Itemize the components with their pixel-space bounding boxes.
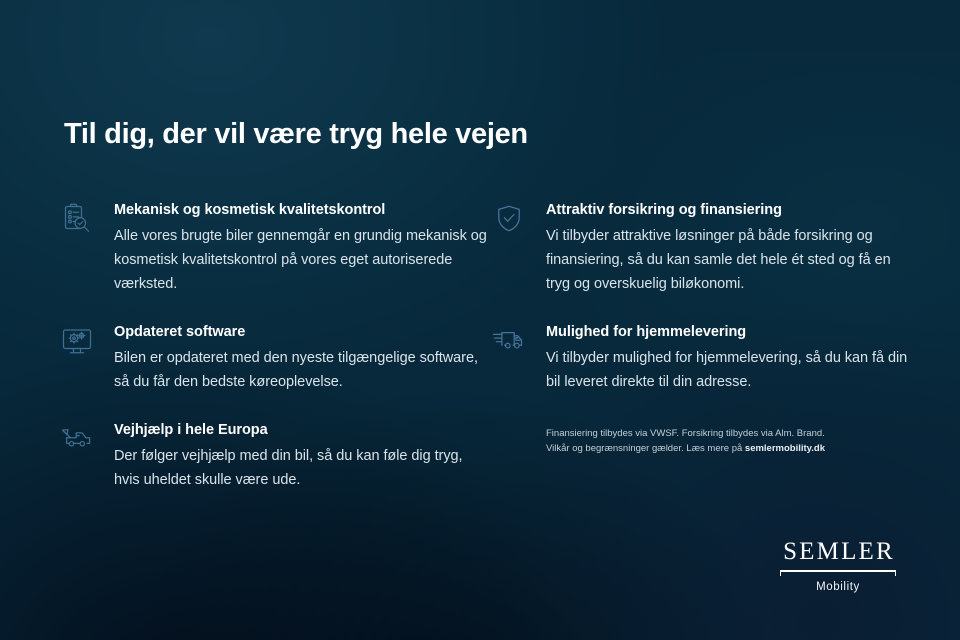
feature-title: Mekanisk og kosmetisk kvalitetskontrol [114, 200, 488, 220]
feature-column-right: Attraktiv forsikring og finansiering Vi … [488, 200, 912, 518]
legal-line-2: Vilkår og begrænsninger gælder. Læs mere… [546, 441, 846, 456]
feature-title: Vejhjælp i hele Europa [114, 420, 488, 440]
feature-body: Opdateret software Bilen er opdateret me… [114, 322, 488, 394]
feature-item-updated-software: Opdateret software Bilen er opdateret me… [56, 322, 488, 394]
semler-mobility-logo: SEMLER Mobility [778, 538, 898, 594]
legal-disclaimer: Finansiering tilbydes via VWSF. Forsikri… [546, 420, 846, 456]
feature-item-quality-control: Mekanisk og kosmetisk kvalitetskontrol A… [56, 200, 488, 296]
feature-description: Vi tilbyder mulighed for hjemmelevering,… [546, 346, 912, 394]
feature-description: Bilen er opdateret med den nyeste tilgæn… [114, 346, 488, 394]
legal-line-2-text: Vilkår og begrænsninger gælder. Læs mere… [546, 443, 745, 454]
feature-item-home-delivery: Mulighed for hjemmelevering Vi tilbyder … [488, 322, 912, 394]
legal-website-link[interactable]: semlermobility.dk [745, 443, 825, 454]
logo-divider-rule [778, 570, 898, 577]
feature-item-insurance-financing: Attraktiv forsikring og finansiering Vi … [488, 200, 912, 296]
feature-title: Mulighed for hjemmelevering [546, 322, 912, 342]
page-title: Til dig, der vil være tryg hele vejen [64, 116, 528, 152]
legal-line-1: Finansiering tilbydes via VWSF. Forsikri… [546, 426, 846, 441]
monitor-gears-icon [56, 322, 114, 358]
clipboard-magnifier-icon [56, 200, 114, 236]
tow-truck-icon [56, 420, 114, 456]
delivery-truck-icon [488, 322, 546, 358]
feature-item-roadside-assistance: Vejhjælp i hele Europa Der følger vejhjæ… [56, 420, 488, 492]
feature-body: Mulighed for hjemmelevering Vi tilbyder … [546, 322, 912, 394]
promo-panel: Til dig, der vil være tryg hele vejen [0, 0, 960, 640]
feature-body: Vejhjælp i hele Europa Der følger vejhjæ… [114, 420, 488, 492]
shield-check-icon [488, 200, 546, 236]
feature-body: Mekanisk og kosmetisk kvalitetskontrol A… [114, 200, 488, 296]
feature-column-left: Mekanisk og kosmetisk kvalitetskontrol A… [56, 200, 488, 518]
feature-description: Der følger vejhjælp med din bil, så du k… [114, 444, 488, 492]
logo-subtitle: Mobility [778, 580, 898, 594]
feature-description: Vi tilbyder attraktive løsninger på både… [546, 224, 912, 296]
feature-body: Attraktiv forsikring og finansiering Vi … [546, 200, 912, 296]
feature-grid: Mekanisk og kosmetisk kvalitetskontrol A… [56, 200, 912, 518]
feature-description: Alle vores brugte biler gennemgår en gru… [114, 224, 488, 296]
feature-title: Opdateret software [114, 322, 488, 342]
feature-title: Attraktiv forsikring og finansiering [546, 200, 912, 220]
logo-wordmark: SEMLER [778, 538, 898, 565]
